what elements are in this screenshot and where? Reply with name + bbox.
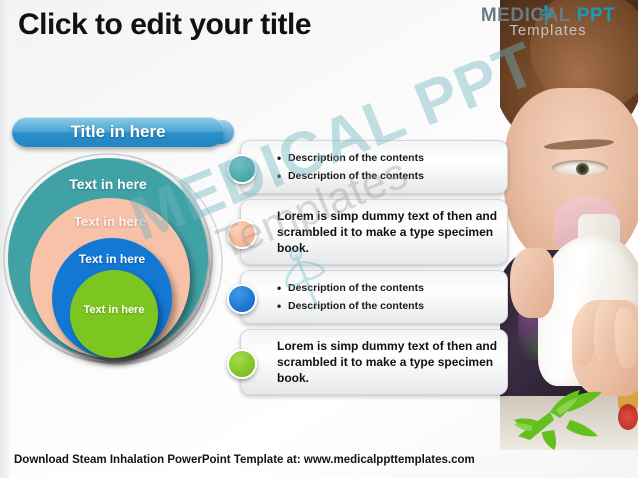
content-box-2-body: Lorem is simp dummy text of then and scr… (277, 200, 499, 264)
content-box-3-body: Description of the contents Description … (277, 271, 499, 323)
caduceus-icon (538, 5, 554, 27)
photo-left-hand (510, 248, 554, 318)
content-box-1-bullet-2: Description of the contents (277, 167, 499, 185)
title-pill-label: Title in here (70, 122, 165, 142)
title-pill-button[interactable]: Title in here (12, 117, 224, 147)
content-box-3-bullet-2: Description of the contents (277, 297, 499, 315)
photo-eye (552, 160, 608, 176)
content-box-4[interactable]: Lorem is simp dummy text of then and scr… (240, 329, 508, 395)
content-box-3[interactable]: Description of the contents Description … (240, 270, 508, 324)
page-title: Click to edit your title (18, 8, 311, 42)
photo-finger (593, 302, 617, 363)
bullet-marker-teal (227, 154, 257, 184)
footer-download-text: Download Steam Inhalation PowerPoint Tem… (14, 454, 475, 466)
photo-herb-leaves (510, 360, 626, 450)
bullet-marker-green (227, 349, 257, 379)
bullet-marker-peach (227, 219, 257, 249)
ring-green-label: Text in here (84, 304, 145, 358)
content-box-1-bullet-1: Description of the contents (277, 149, 499, 167)
bullet-marker-blue (227, 284, 257, 314)
content-box-3-bullet-1: Description of the contents (277, 279, 499, 297)
content-box-4-body: Lorem is simp dummy text of then and scr… (277, 330, 499, 394)
ring-green[interactable]: Text in here (70, 270, 158, 358)
brand-logo: MEDICAL PPT Templates (464, 6, 632, 46)
content-box-1[interactable]: Description of the contents Description … (240, 140, 508, 194)
photo-iris (576, 163, 589, 175)
content-box-4-text: Lorem is simp dummy text of then and scr… (277, 338, 499, 387)
steam-inhalation-photo (500, 0, 638, 450)
content-box-2-text: Lorem is simp dummy text of then and scr… (277, 208, 499, 257)
slide-canvas: Click to edit your title MEDICAL PPT Tem… (0, 0, 638, 478)
concentric-rings-diagram: Text in here Text in here Text in here T… (0, 150, 240, 390)
content-box-1-body: Description of the contents Description … (277, 141, 499, 193)
content-box-2[interactable]: Lorem is simp dummy text of then and scr… (240, 199, 508, 265)
